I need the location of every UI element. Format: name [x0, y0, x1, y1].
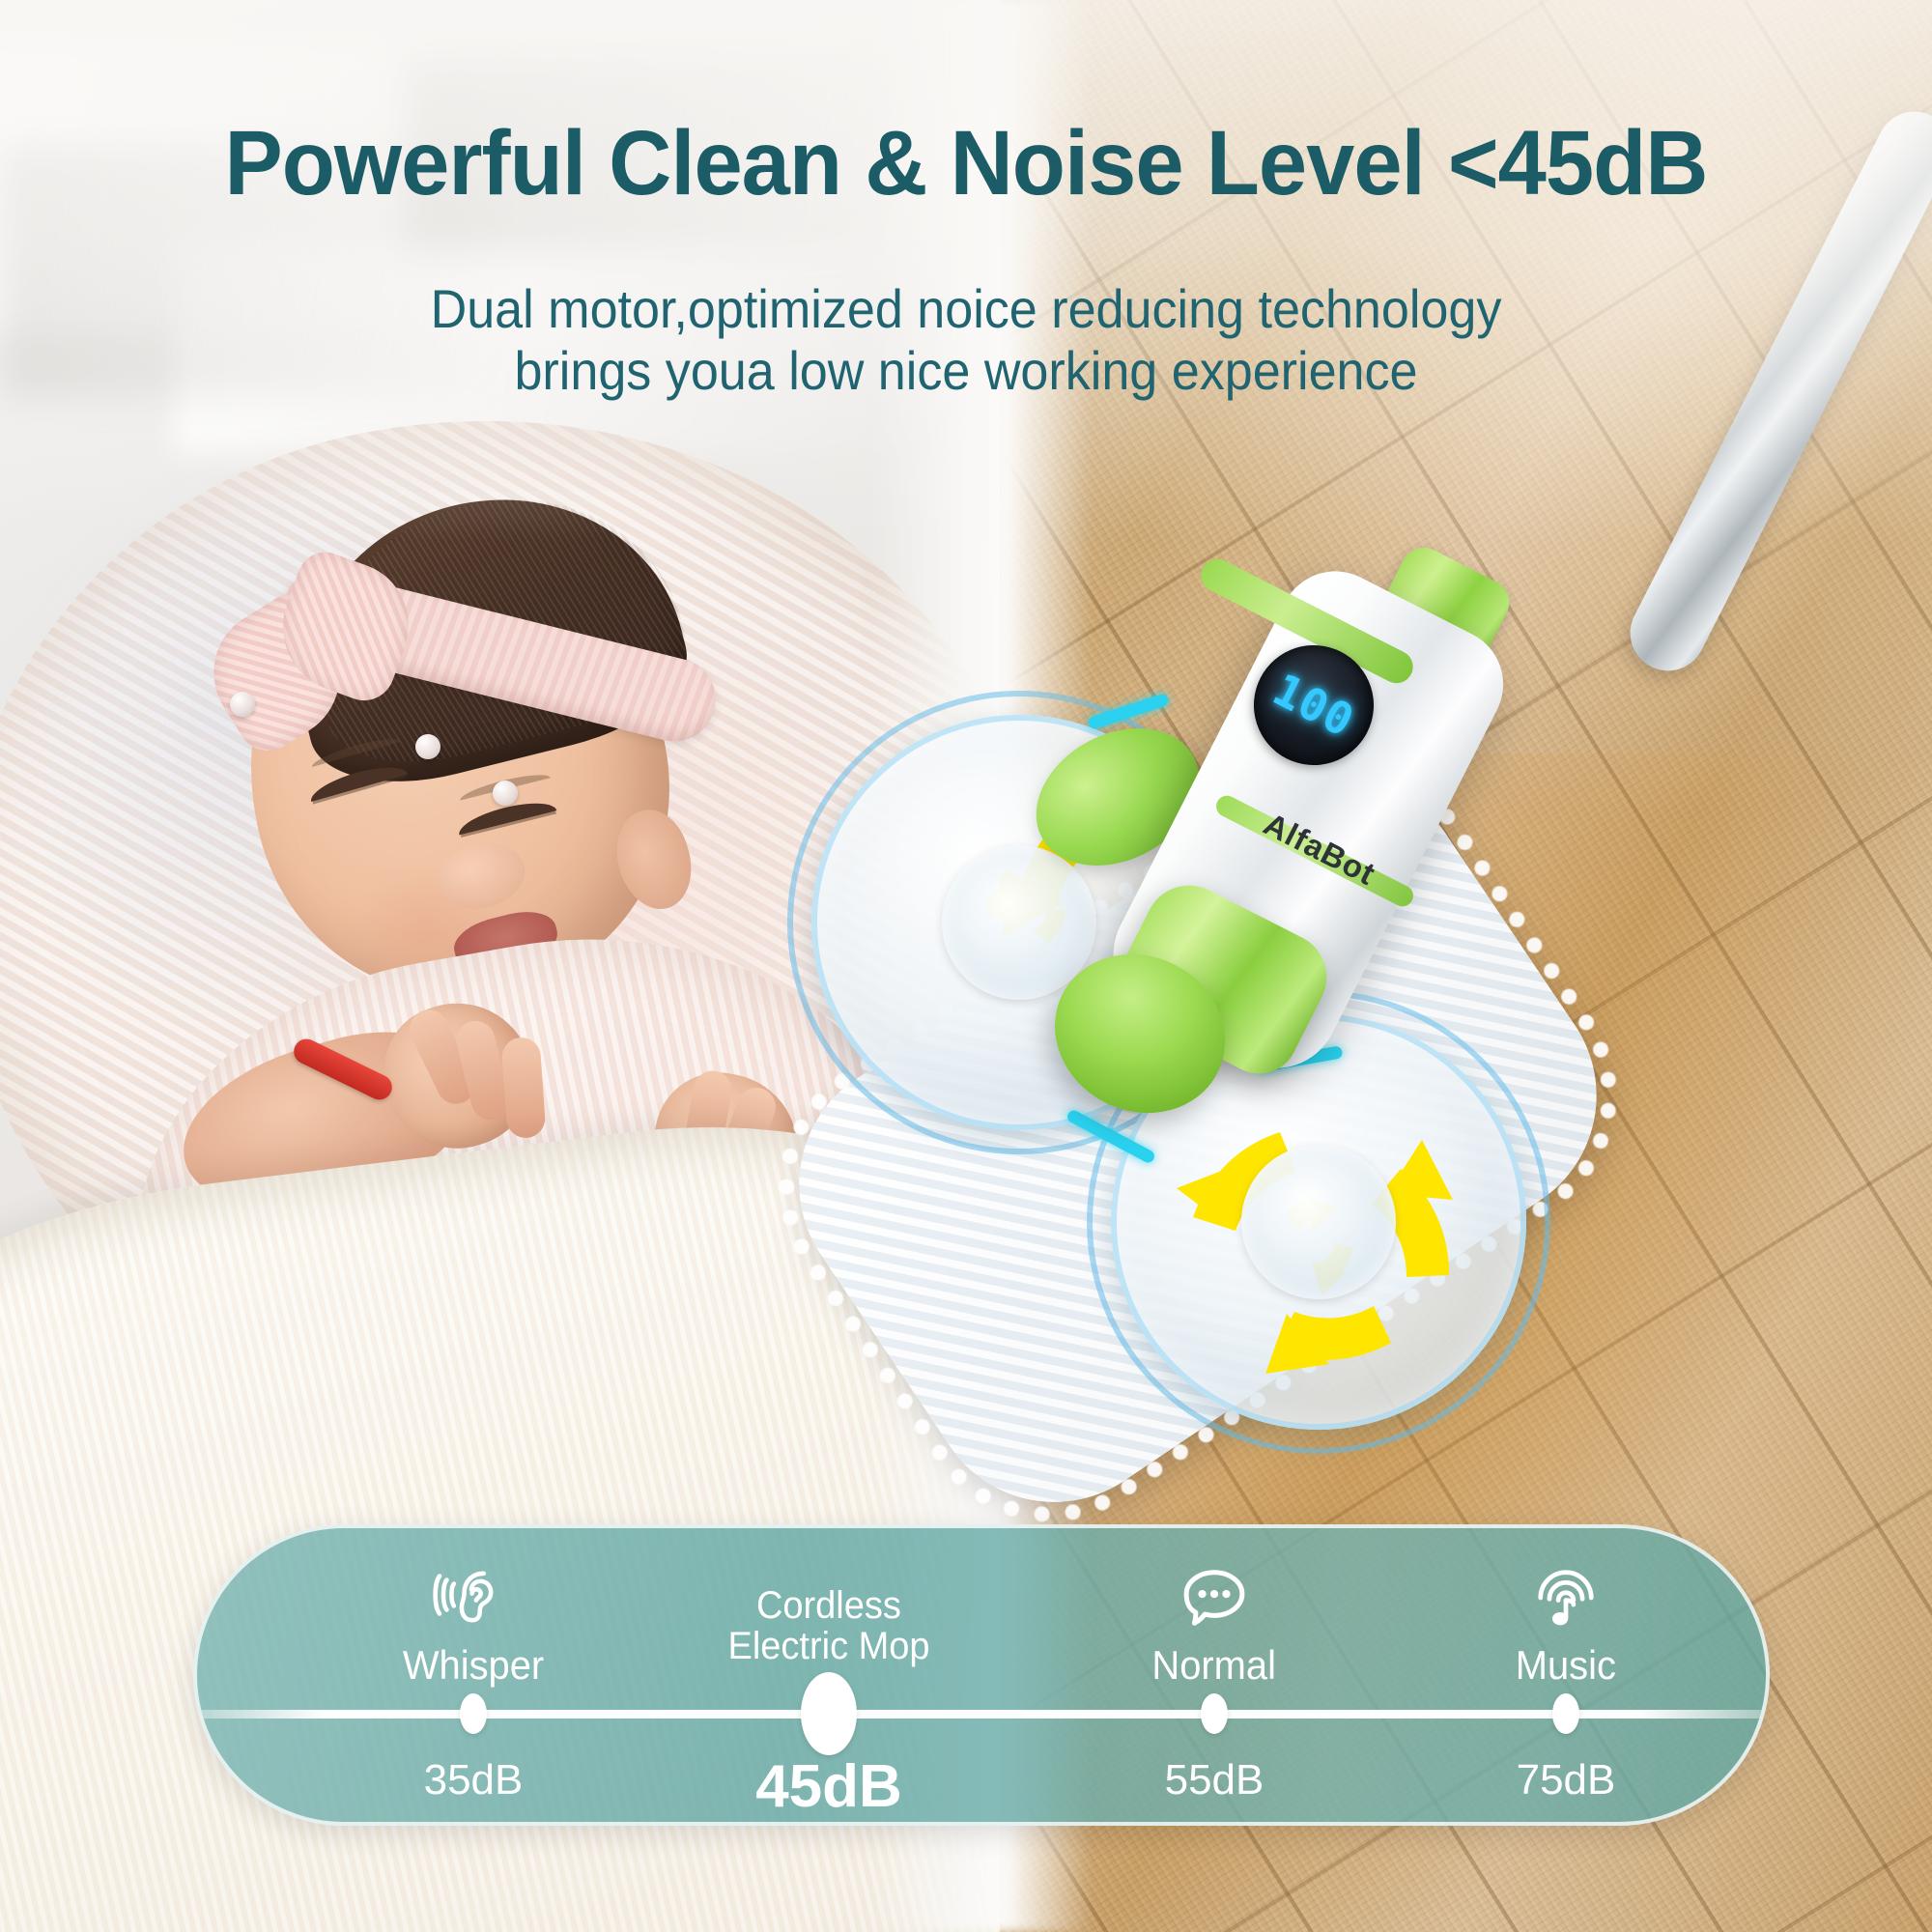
noise-stop-label: Music — [1516, 1644, 1616, 1687]
subtitle-line-1: Dual motor,optimized noice reducing tech… — [68, 278, 1864, 340]
headband-pearl — [493, 781, 518, 806]
product-marketing-banner: 100 AlfaBot Powerful Clean & Noise Level… — [0, 0, 1932, 1932]
noise-stop-marker[interactable] — [1552, 1693, 1579, 1734]
noise-stop-value: 75dB — [1517, 1756, 1616, 1804]
noise-stop-normal[interactable]: Normal 55dB — [1118, 1528, 1311, 1826]
subtitle-line-2: brings youa low nice working experience — [68, 340, 1864, 402]
noise-stop-music[interactable]: Music 75dB — [1469, 1528, 1662, 1826]
mop-pad-hub-lower — [1241, 1145, 1396, 1299]
noise-stop-marker[interactable] — [1201, 1693, 1228, 1734]
baby-finger — [500, 1037, 546, 1140]
ear-icon — [432, 1542, 515, 1638]
noise-stop-value: 55dB — [1165, 1756, 1264, 1804]
noise-stop-label: Whisper — [403, 1644, 544, 1687]
noise-stop-label: Normal — [1152, 1644, 1277, 1687]
noise-stop-marker[interactable] — [460, 1693, 487, 1734]
led-battery-value: 100 — [1264, 663, 1362, 747]
baby-bow — [198, 549, 453, 792]
page-title: Powerful Clean & Noise Level <45dB — [48, 111, 1884, 216]
noise-stop-label-line2: Electric Mop — [727, 1627, 929, 1667]
page-subtitle: Dual motor,optimized noice reducing tech… — [68, 278, 1864, 403]
noise-stop-whisper[interactable]: Whisper 35dB — [377, 1528, 570, 1826]
bow-pearl — [230, 692, 255, 717]
cordless-electric-mop: 100 AlfaBot — [947, 415, 1932, 1652]
speech-bubble-icon — [1174, 1542, 1255, 1638]
noise-stop-marker-active[interactable] — [801, 1672, 857, 1755]
noise-level-scale: Whisper 35dB Cordless Electric Mop 45dB … — [193, 1524, 1770, 1826]
noise-stop-cordless-electric-mop[interactable]: Cordless Electric Mop 45dB — [665, 1528, 993, 1826]
headband-pearl — [415, 734, 440, 759]
music-note-icon — [1525, 1542, 1606, 1638]
noise-stop-value-active: 45dB — [755, 1752, 902, 1821]
noise-stop-label-line1: Cordless — [756, 1586, 901, 1627]
noise-stop-value: 35dB — [424, 1756, 524, 1804]
